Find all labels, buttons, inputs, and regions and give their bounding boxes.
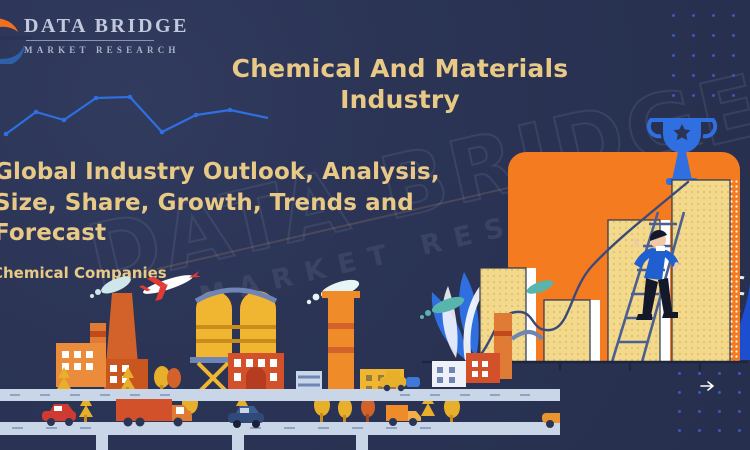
vehicle-yellow-upper — [380, 371, 420, 391]
bar-4 — [672, 180, 730, 362]
brand-logo-divider — [26, 40, 154, 41]
dot-grid-top-right — [672, 14, 750, 106]
brand-logo-line1: DATA BRIDGE — [24, 16, 189, 36]
airplane-icon — [137, 265, 203, 305]
industrial-city-scene — [0, 265, 560, 450]
brand-logo[interactable]: DATA BRIDGE MARKET RESEARCH — [0, 8, 192, 70]
highway-lower — [0, 399, 560, 450]
brand-logo-line2: MARKET RESEARCH — [24, 45, 189, 55]
arrow-right-cursor — [700, 378, 716, 394]
poster-canvas: DATA BRIDGE MARKET RESEARCH DATA BRIDGE … — [0, 0, 750, 450]
brand-logo-text: DATA BRIDGE MARKET RESEARCH — [24, 16, 189, 55]
